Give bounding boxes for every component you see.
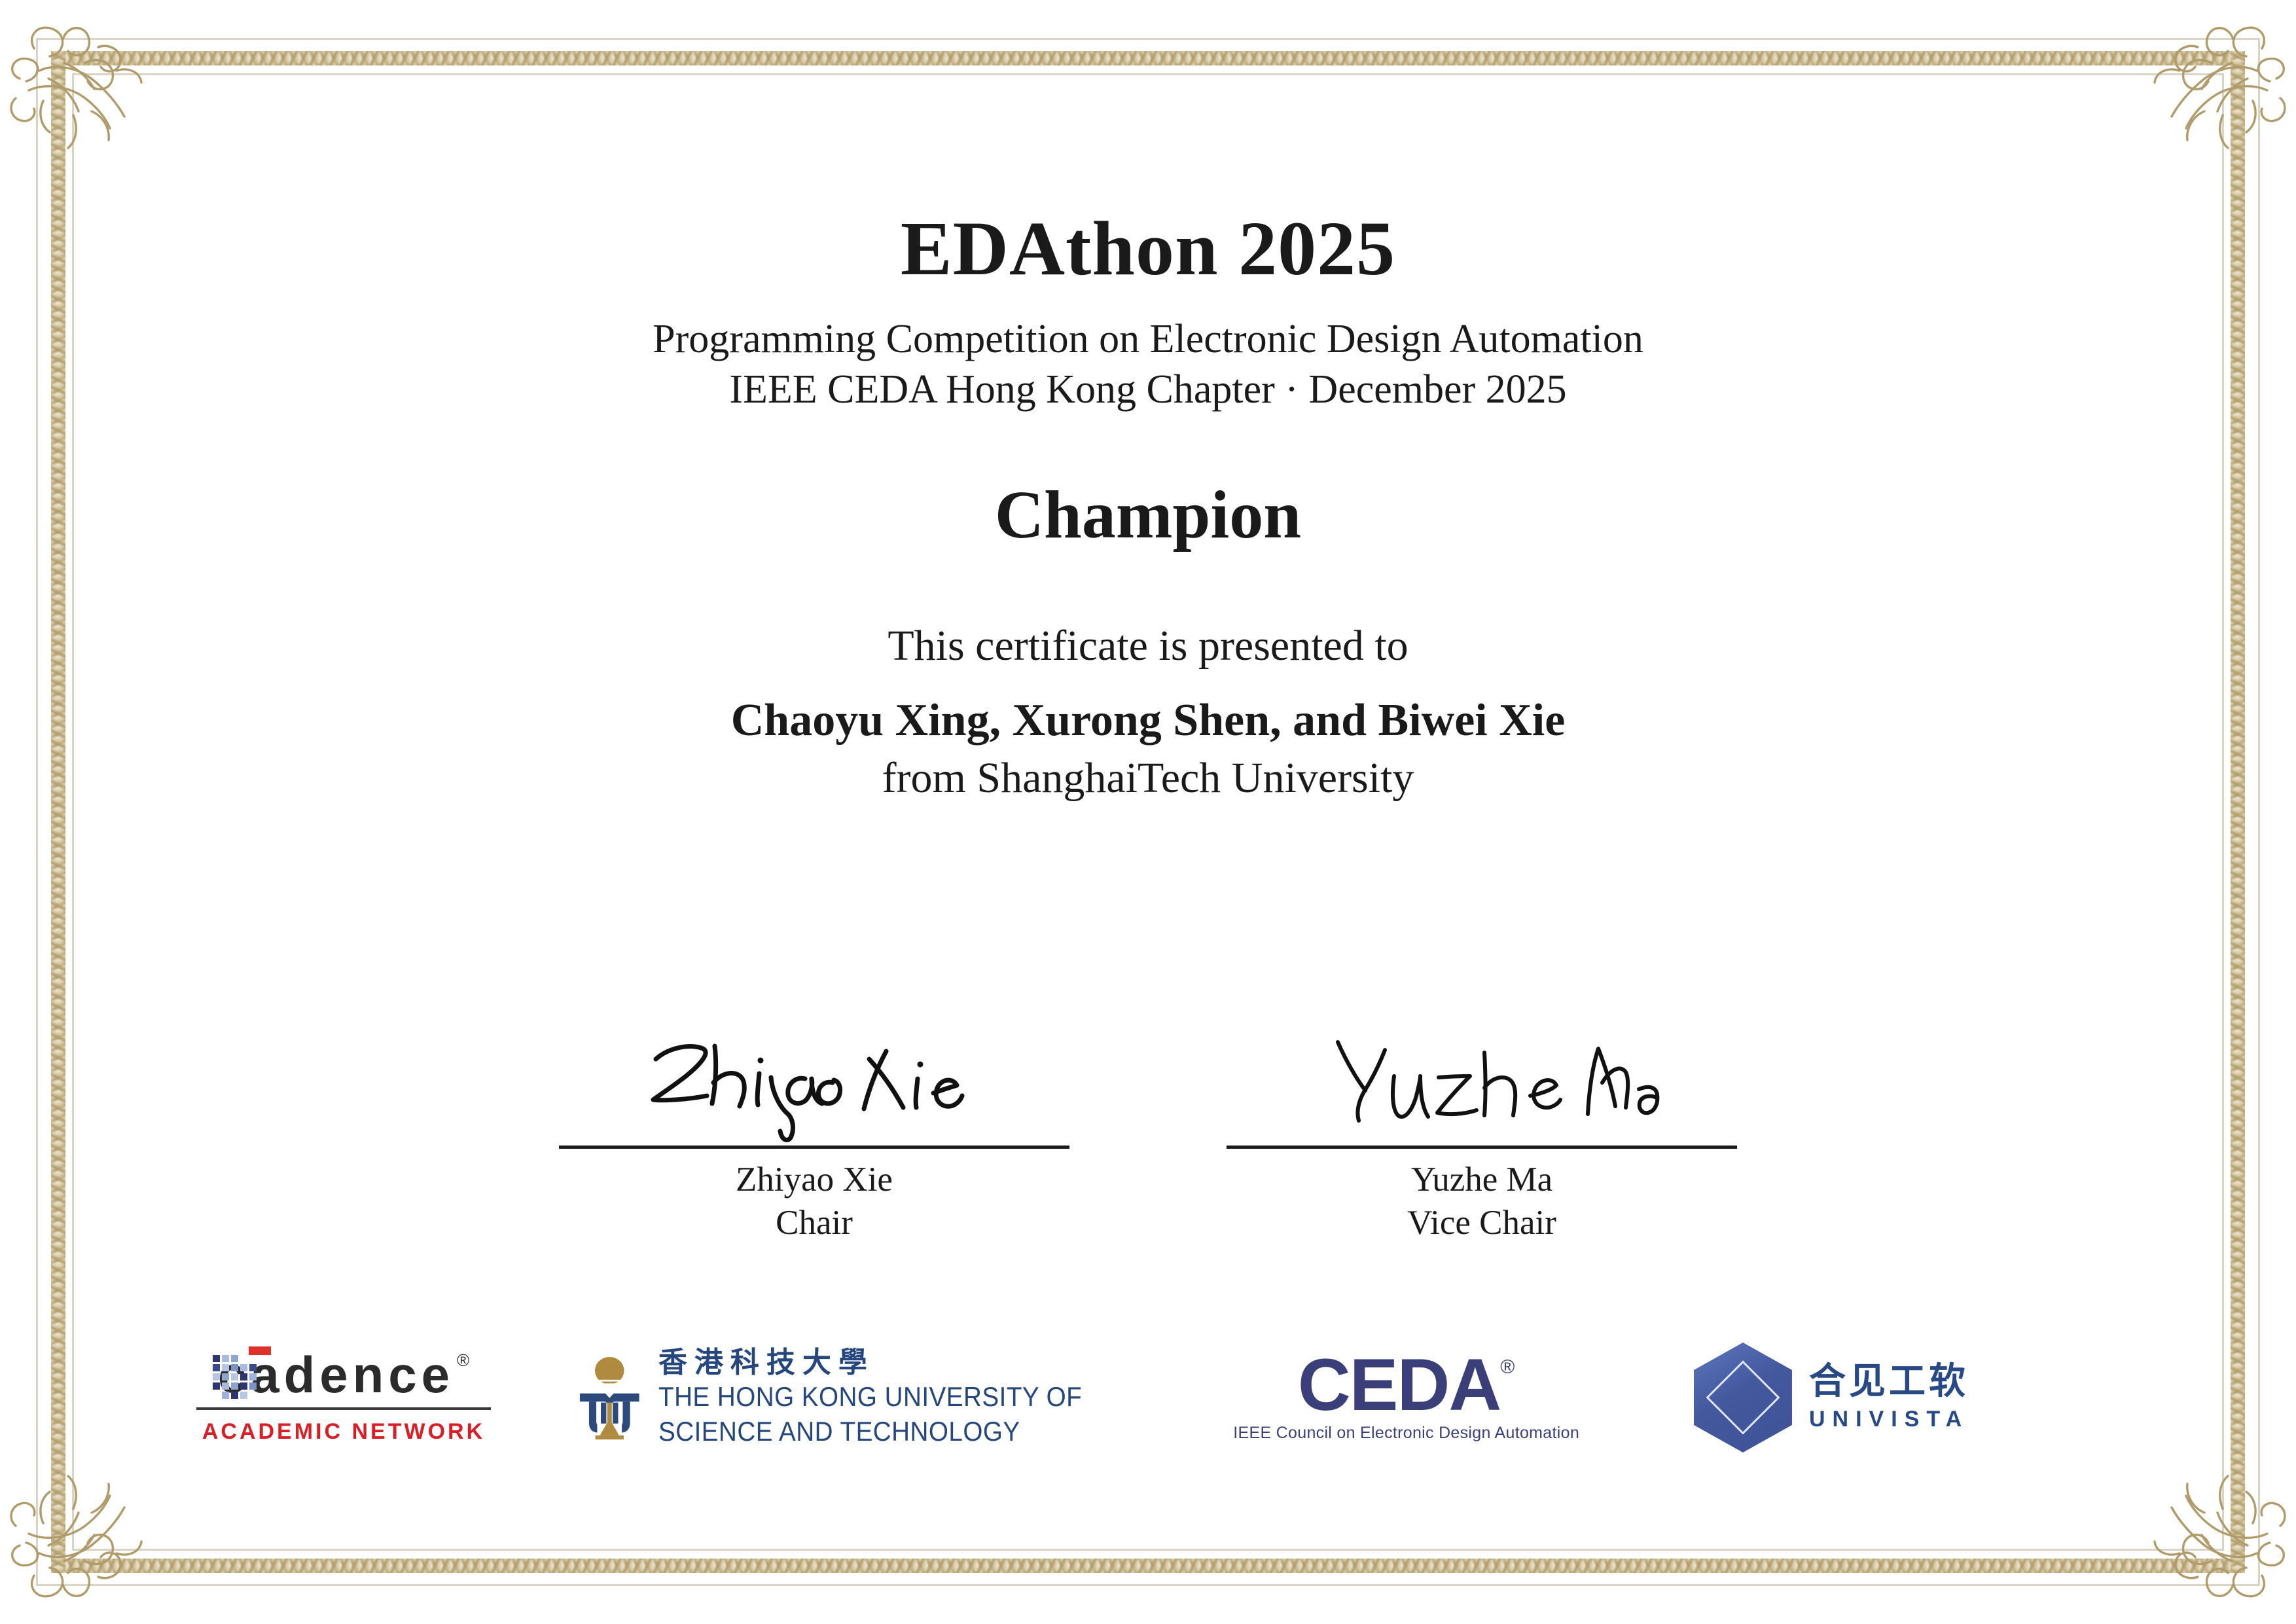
signature-ink-yuzhe-ma bbox=[1227, 1021, 1737, 1146]
ceda-wordmark: CEDA bbox=[1298, 1352, 1500, 1418]
ceda-chip-grid-icon bbox=[213, 1355, 257, 1399]
corner-flourish-bottom-left bbox=[0, 1473, 151, 1624]
logo-ceda: CEDA ® IEEE Council on Electronic Design… bbox=[1204, 1352, 1609, 1443]
event-title: EDAthon 2025 bbox=[0, 0, 2296, 289]
cadence-macron-accent bbox=[249, 1346, 271, 1355]
hkust-english-line1: THE HONG KONG UNIVERSITY OF bbox=[658, 1381, 1082, 1412]
recipient-affiliation: from ShanghaiTech University bbox=[0, 748, 2296, 804]
event-subtitle-line2: IEEE CEDA Hong Kong Chapter · December 2… bbox=[0, 363, 2296, 414]
signatory-name-chair: Zhiyao Xie bbox=[559, 1149, 1069, 1201]
ceda-tagline: IEEE Council on Electronic Design Automa… bbox=[1233, 1424, 1579, 1443]
hkust-text-block: 香港科技大學 THE HONG KONG UNIVERSITY OF SCIEN… bbox=[658, 1348, 1119, 1447]
univista-chinese-name: 合见工软 bbox=[1809, 1363, 1969, 1401]
univista-hexagon-icon bbox=[1694, 1343, 1792, 1453]
ceda-registered-icon: ® bbox=[1500, 1356, 1515, 1379]
border-hairline-bottom-inner bbox=[72, 1549, 2224, 1551]
presented-to-label: This certificate is presented to bbox=[0, 550, 2296, 671]
event-subtitle-line1: Programming Competition on Electronic De… bbox=[0, 289, 2296, 363]
hkust-chinese-name: 香港科技大學 bbox=[658, 1348, 1119, 1377]
logo-hkust: 香港科技大學 THE HONG KONG UNIVERSITY OF SCIEN… bbox=[575, 1335, 1119, 1460]
ceda-wordmark-group: CEDA ® bbox=[1298, 1352, 1515, 1418]
signature-block-vice-chair: Yuzhe Ma Vice Chair bbox=[1227, 1021, 1737, 1245]
signatory-role-vice-chair: Vice Chair bbox=[1227, 1201, 1737, 1244]
cadence-divider bbox=[196, 1407, 491, 1410]
univista-english-name: UNIVISTA bbox=[1809, 1407, 1969, 1432]
hkust-english-line2: SCIENCE AND TECHNOLOGY bbox=[658, 1416, 1082, 1447]
hkust-torch-emblem bbox=[575, 1335, 644, 1460]
sponsor-logo-row: cadence ® ACADEMIC NETWORK 香港科技大學 THE HO… bbox=[196, 1335, 2100, 1460]
certificate-content: EDAthon 2025 Programming Competition on … bbox=[0, 0, 2296, 804]
corner-flourish-bottom-right bbox=[2145, 1473, 2296, 1624]
univista-diamond-icon bbox=[1706, 1360, 1780, 1434]
signatory-name-vice-chair: Yuzhe Ma bbox=[1227, 1149, 1737, 1201]
signatory-role-chair: Chair bbox=[559, 1201, 1069, 1244]
border-hairline-bottom-outer bbox=[36, 1584, 2260, 1586]
signature-ink-zhiyao-xie bbox=[559, 1021, 1069, 1146]
cadence-tagline: ACADEMIC NETWORK bbox=[202, 1419, 485, 1445]
logo-univista: 合见工软 UNIVISTA bbox=[1694, 1343, 2100, 1453]
univista-text-block: 合见工软 UNIVISTA bbox=[1809, 1363, 1969, 1432]
cadence-registered-icon: ® bbox=[457, 1350, 469, 1371]
recipient-names: Chaoyu Xing, Xurong Shen, and Biwei Xie bbox=[0, 671, 2296, 748]
signature-row: Zhiyao Xie Chair bbox=[0, 1021, 2296, 1245]
award-rank: Champion bbox=[0, 414, 2296, 550]
signature-block-chair: Zhiyao Xie Chair bbox=[559, 1021, 1069, 1245]
border-braid-bottom bbox=[51, 1559, 2245, 1573]
